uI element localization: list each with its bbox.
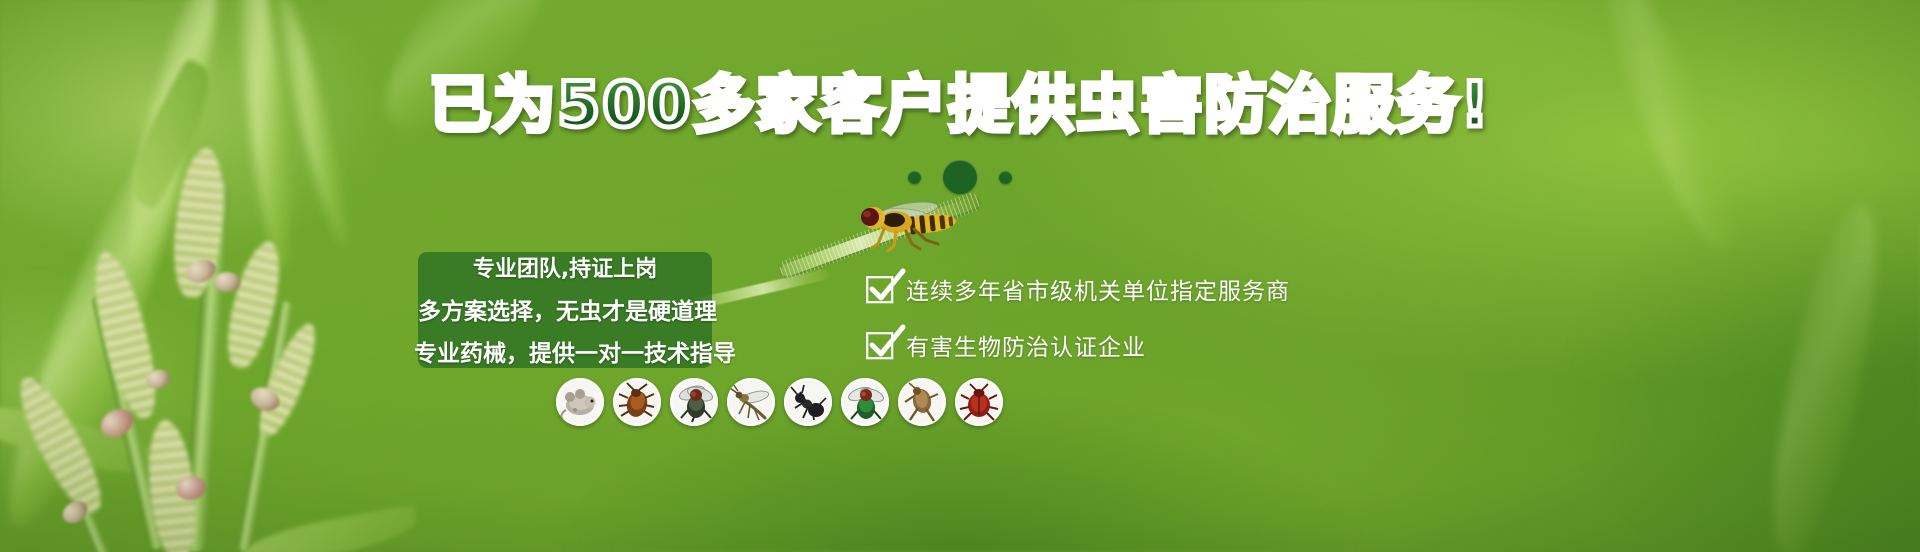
highlights-panel: 专业团队,持证上岗 多方案选择，无虫才是硬道理 专业药械，提供一对一技术指导 (418, 252, 712, 368)
checklist-item: 有害生物防治认证企业 (866, 328, 1290, 362)
mosquito-icon[interactable] (727, 378, 775, 426)
checkbox-checked-icon (866, 332, 892, 358)
ant-icon[interactable] (784, 378, 832, 426)
checklist-item-label: 连续多年省市级机关单位指定服务商 (906, 272, 1290, 306)
flea-icon[interactable] (898, 378, 946, 426)
decorative-dot-small-right (999, 171, 1012, 184)
headline-container: 已为500多家客户提供虫害防治服务! (0, 72, 1920, 137)
pest-icons-row (556, 378, 1003, 426)
plant-flower-spike (84, 247, 166, 422)
checklist-item-label: 有害生物防治认证企业 (906, 328, 1146, 362)
credentials-checklist: 连续多年省市级机关单位指定服务商 有害生物防治认证企业 (866, 272, 1290, 384)
panel-line-3: 专业药械，提供一对一技术指导 (414, 334, 712, 368)
checkbox-checked-icon (866, 276, 892, 302)
mouse-icon[interactable] (556, 378, 604, 426)
bedbug-icon[interactable] (955, 378, 1003, 426)
headline-text: 已为500多家客户提供虫害防治服务! (429, 72, 1491, 137)
promo-banner: 已为500多家客户提供虫害防治服务! 专业团队,持证上岗 多方案选择，无虫才是硬… (0, 0, 1920, 552)
decorative-dots (0, 160, 1920, 194)
fly-icon[interactable] (670, 378, 718, 426)
decorative-dot-large (943, 160, 977, 194)
decorative-dot-small-left (908, 171, 921, 184)
hoverfly-image (848, 196, 968, 252)
plant-leaf (236, 505, 420, 552)
blowfly-icon[interactable] (841, 378, 889, 426)
panel-line-2: 多方案选择，无虫才是硬道理 (418, 292, 712, 326)
plant-bud (214, 272, 240, 292)
panel-line-1: 专业团队,持证上岗 (418, 251, 712, 283)
cockroach-icon[interactable] (613, 378, 661, 426)
checklist-item: 连续多年省市级机关单位指定服务商 (866, 272, 1290, 306)
